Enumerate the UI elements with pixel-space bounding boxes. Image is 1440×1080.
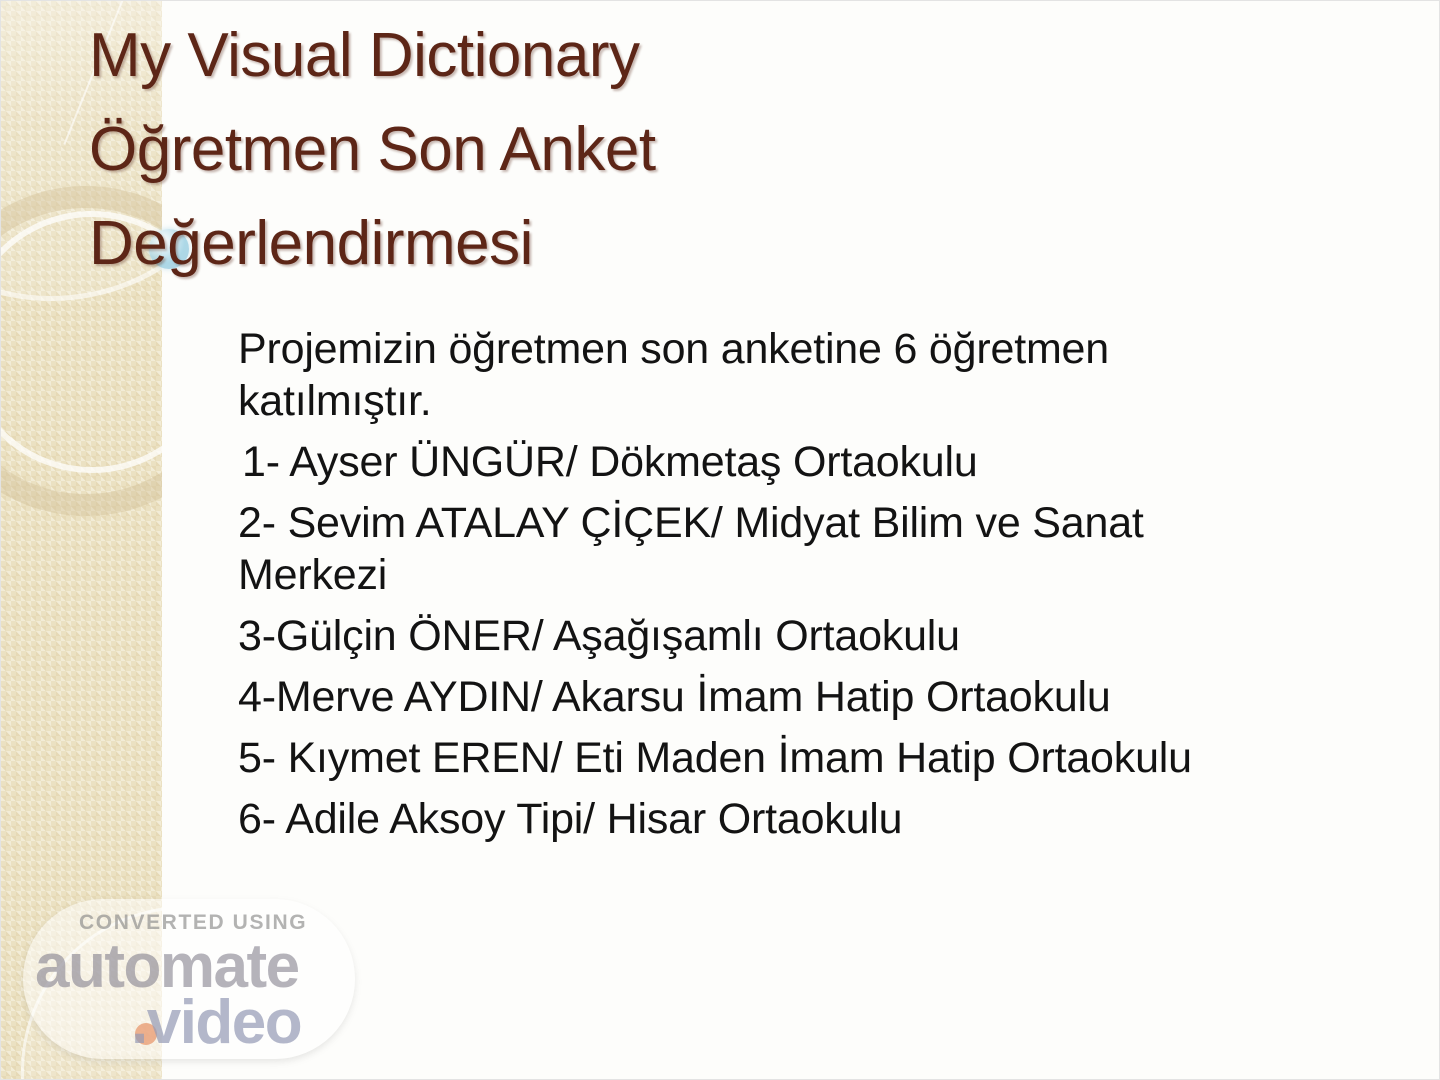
teacher-list-item-2: 2- Sevim ATALAY ÇİÇEK/ Midyat Bilim ve S… [238, 497, 1238, 601]
teacher-list-item-3: 3-Gülçin ÖNER/ Aşağışamlı Ortaokulu [238, 610, 1238, 662]
title-line-1: My Visual Dictionary [89, 9, 1269, 103]
slide-body: Projemizin öğretmen son anketine 6 öğret… [238, 323, 1238, 854]
page-title: My Visual Dictionary Öğretmen Son Anket … [89, 9, 1269, 291]
teacher-list-item-5: 5- Kıymet EREN/ Eti Maden İmam Hatip Ort… [238, 732, 1238, 784]
teacher-list-item-6: 6- Adile Aksoy Tipi/ Hisar Ortaokulu [238, 793, 1238, 845]
teacher-list-item-4: 4-Merve AYDIN/ Akarsu İmam Hatip Ortaoku… [238, 671, 1238, 723]
body-paragraph-intro: Projemizin öğretmen son anketine 6 öğret… [238, 323, 1238, 427]
teacher-list-item-1: 1- Ayser ÜNGÜR/ Dökmetaş Ortaokulu [238, 436, 1238, 488]
presentation-slide: My Visual Dictionary Öğretmen Son Anket … [0, 0, 1440, 1080]
title-line-3: Değerlendirmesi [89, 197, 1269, 291]
title-line-2: Öğretmen Son Anket [89, 103, 1269, 197]
